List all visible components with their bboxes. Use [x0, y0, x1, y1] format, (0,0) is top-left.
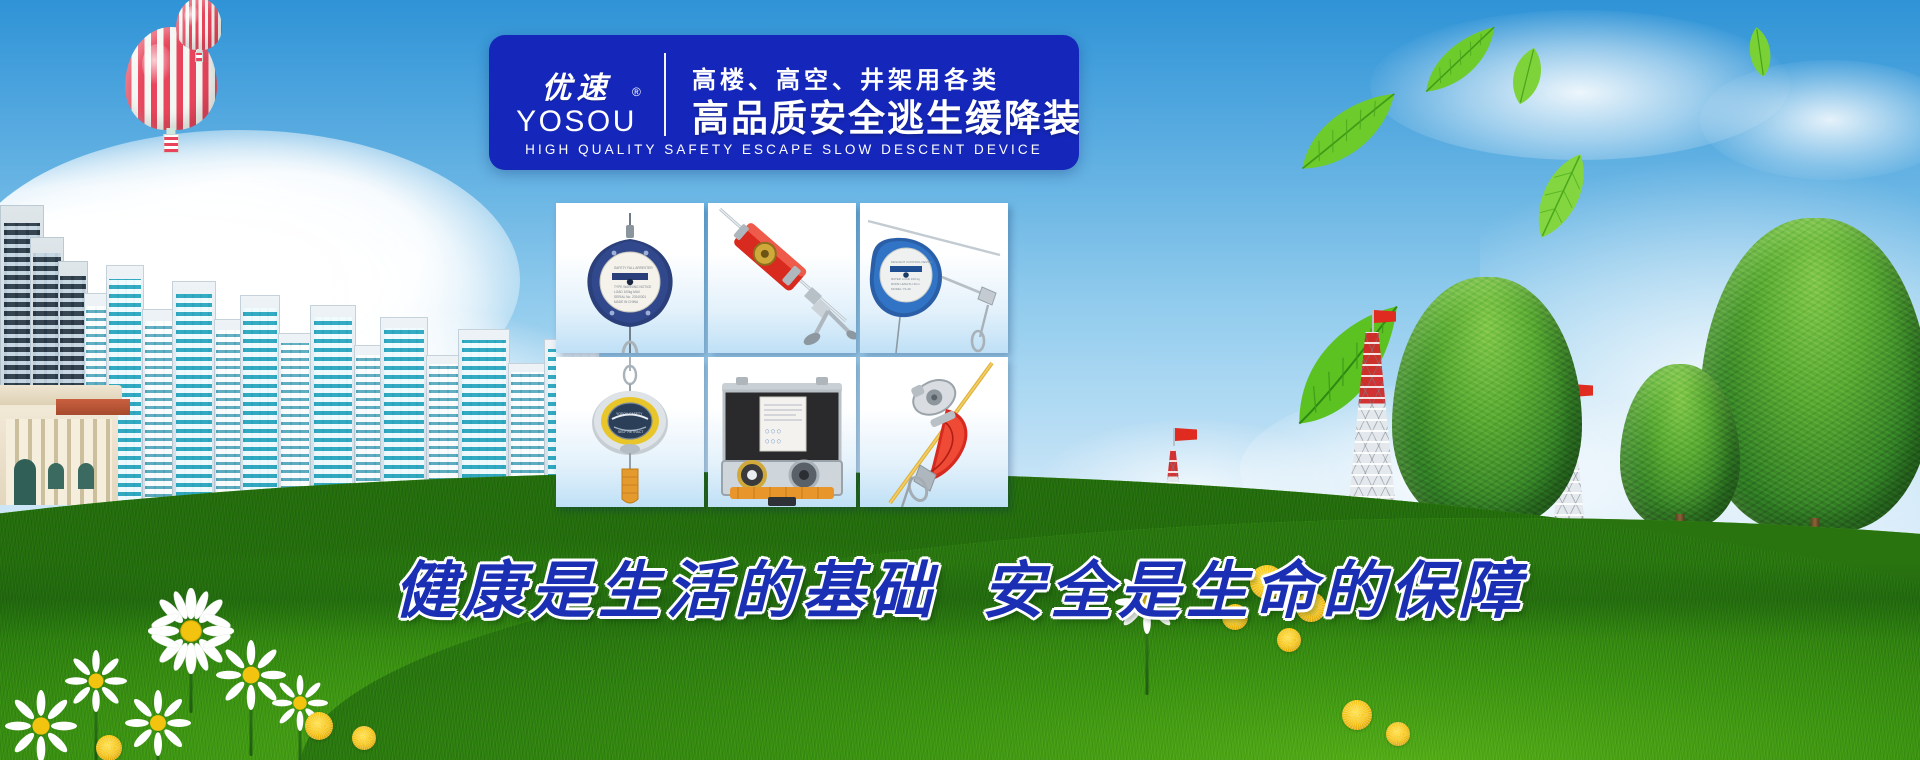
white-daisy-icon [125, 690, 191, 760]
product-cell-red-lever-hoist-wire-rope[interactable] [708, 203, 856, 353]
registered-trademark-icon: ® [632, 85, 1079, 99]
svg-text:⬡ ⬡ ⬡: ⬡ ⬡ ⬡ [765, 429, 781, 435]
cityscape-left [0, 175, 620, 505]
building [240, 295, 280, 505]
product-cell-blue-descent-control-device[interactable]: DESCENT CONTROL DEVICERATED LOAD 100 kgR… [860, 203, 1008, 353]
svg-text:SERIAL No. 20240301: SERIAL No. 20240301 [614, 295, 646, 299]
svg-text:SAFETY FALL ARRESTER: SAFETY FALL ARRESTER [614, 266, 653, 270]
product-cell-aluminium-case-escape-kit[interactable]: ⬡ ⬡ ⬡⬡ ⬡ ⬡ [708, 357, 856, 507]
banner-stage: SAFETY FALL ARRESTERTYPE WARNING NOTICEL… [0, 0, 1920, 760]
svg-text:MADE IN CHINA: MADE IN CHINA [614, 300, 639, 304]
yellow-dandelion-icon [1342, 700, 1372, 730]
classical-building [0, 397, 118, 505]
svg-text:DESCENT CONTROL DEVICE: DESCENT CONTROL DEVICE [891, 260, 933, 264]
svg-text:ROPE LENGTH 30 m: ROPE LENGTH 30 m [891, 282, 921, 286]
slogan-part-1: 健康是生活的基础 [394, 558, 938, 626]
headline-english-subtitle: HIGH QUALITY SAFETY ESCAPE SLOW DESCENT … [489, 142, 1079, 157]
yellow-dandelion-icon [1277, 628, 1301, 652]
building [380, 317, 428, 505]
building [310, 305, 356, 505]
svg-text:YOSOU SAFETY: YOSOU SAFETY [616, 412, 643, 416]
red-flag-icon [1173, 428, 1175, 446]
svg-text:LOAD 100kg MAX: LOAD 100kg MAX [614, 290, 641, 294]
product-image-grid: SAFETY FALL ARRESTERTYPE WARNING NOTICEL… [556, 203, 1008, 508]
headline-line-2: 高品质安全逃生缓降装置 [692, 97, 1079, 141]
balloon-envelope [176, 0, 222, 50]
poplar-tree-mid-icon [1620, 364, 1740, 544]
poplar-tree-large-icon [1392, 277, 1582, 542]
svg-text:⬡ ⬡ ⬡: ⬡ ⬡ ⬡ [765, 439, 781, 445]
slogan-part-2: 安全是生命的保障 [982, 558, 1526, 626]
svg-text:MODEL YS-30: MODEL YS-30 [891, 287, 911, 291]
building [172, 281, 216, 505]
product-cell-red-rope-grab-descender[interactable] [860, 357, 1008, 507]
white-daisy-icon [5, 690, 77, 760]
building [278, 333, 312, 505]
svg-text:TYPE WARNING NOTICE: TYPE WARNING NOTICE [614, 285, 651, 289]
hot-air-balloon-small-icon [176, 0, 222, 62]
badge-divider [664, 53, 666, 136]
balloon-basket [163, 134, 179, 153]
brand-logo-en: YOSOU [516, 107, 637, 137]
leaf-icon [1740, 24, 1781, 80]
brand-logo-cn: 优速 [542, 74, 612, 104]
svg-text:SELF RETRACT: SELF RETRACT [618, 430, 643, 434]
bottom-slogan: 健康是生活的基础安全是生命的保障 [0, 540, 1920, 630]
yellow-dandelion-icon [1386, 722, 1410, 746]
building [142, 309, 176, 505]
balloon-basket [195, 52, 203, 62]
product-cell-round-descent-reel-with-harness[interactable]: YOSOU SAFETYSELF RETRACT [556, 357, 704, 507]
yellow-dandelion-icon [96, 735, 122, 760]
yellow-dandelion-icon [352, 726, 376, 750]
product-cell-blue-teardrop-fall-arrester[interactable]: SAFETY FALL ARRESTERTYPE WARNING NOTICEL… [556, 203, 704, 353]
yellow-dandelion-icon [305, 712, 333, 740]
